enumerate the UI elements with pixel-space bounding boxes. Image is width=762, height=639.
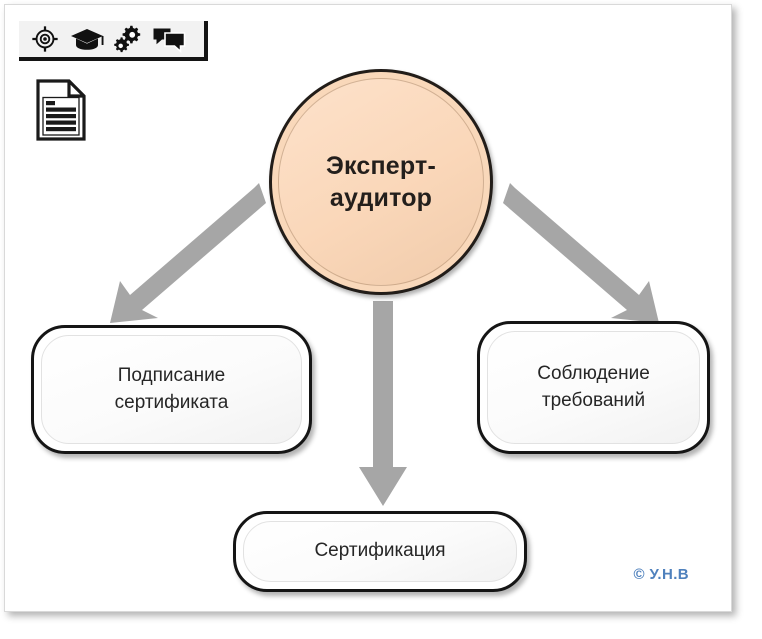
copyright-notice: © У.Н.В [634, 566, 689, 583]
center-node-label-line2: аудитор [330, 182, 432, 214]
center-node-label: Эксперт- аудитор [269, 69, 493, 295]
node-certification-label-line1: Сертификация [314, 538, 445, 565]
document-icon[interactable] [35, 79, 87, 141]
gears-icon[interactable] [111, 24, 143, 54]
screenshot-canvas: Эксперт- аудитор Подписание сертификата … [0, 0, 762, 639]
node-signing-label-line2: сертификата [115, 390, 229, 417]
center-node-label-line1: Эксперт- [326, 150, 436, 182]
node-compliance-label-line2: требований [537, 388, 650, 415]
node-compliance-face: Соблюдение требований [487, 331, 700, 444]
node-signing[interactable]: Подписание сертификата [31, 325, 312, 454]
node-signing-face: Подписание сертификата [41, 335, 302, 444]
speech-bubbles-icon[interactable] [152, 24, 184, 54]
node-signing-label: Подписание сертификата [105, 363, 239, 417]
node-compliance-label: Соблюдение требований [527, 361, 660, 415]
slide-frame: Эксперт- аудитор Подписание сертификата … [4, 4, 732, 612]
arrow-down [357, 301, 409, 509]
center-node-expert-auditor[interactable]: Эксперт- аудитор [269, 69, 493, 295]
graduation-cap-icon[interactable] [70, 24, 102, 54]
node-compliance[interactable]: Соблюдение требований [477, 321, 710, 454]
node-certification-label: Сертификация [304, 538, 455, 565]
icon-toolbar [19, 21, 208, 61]
node-certification-face: Сертификация [243, 521, 517, 582]
target-icon[interactable] [29, 24, 61, 54]
node-compliance-label-line1: Соблюдение [537, 361, 650, 388]
arrow-down-right [497, 177, 669, 327]
node-certification[interactable]: Сертификация [233, 511, 527, 592]
arrow-down-left [100, 177, 272, 327]
node-signing-label-line1: Подписание [115, 363, 229, 390]
